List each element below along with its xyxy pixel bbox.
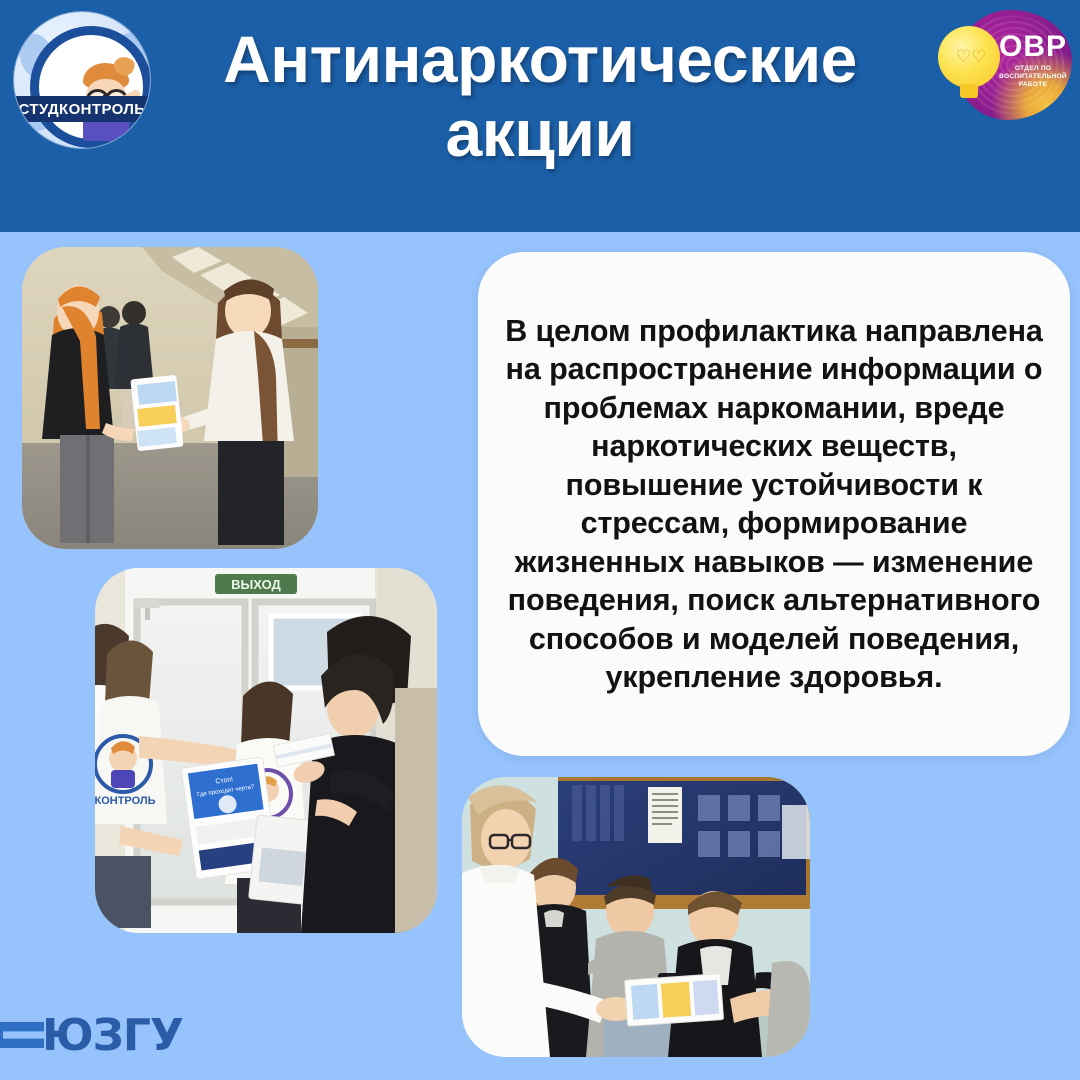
svg-text:КОНТРОЛЬ: КОНТРОЛЬ	[95, 795, 156, 807]
photo-2-artwork: ВЫХОД КОНТРОЛЬ	[95, 568, 437, 933]
studkontrol-ribbon: СТУДКОНТРОЛЬ	[14, 96, 150, 122]
studkontrol-ribbon-label: СТУДКОНТРОЛЬ	[19, 101, 146, 118]
poster-root: СТУДКОНТРОЛЬ Антинаркотические акции ♡♡ …	[0, 0, 1080, 1080]
ovr-text-block: ОВР ОТДЕЛ ПО ВОСПИТАТЕЛЬНОЙ РАБОТЕ	[996, 32, 1070, 89]
photo-3-artwork	[462, 777, 810, 1057]
logo-ring	[30, 26, 150, 148]
info-text-card: В целом профилактика направлена на распр…	[478, 252, 1070, 756]
swsu-logo: ЮЗГУ	[0, 1012, 204, 1058]
photo-students-seated-leaflet	[462, 777, 810, 1057]
ovr-subtitle: ОТДЕЛ ПО ВОСПИТАТЕЛЬНОЙ РАБОТЕ	[996, 65, 1070, 89]
photo-students-corridor	[22, 247, 318, 549]
lightbulb-icon: ♡♡	[938, 26, 1000, 88]
svg-text:ВЫХОД: ВЫХОД	[231, 577, 281, 592]
ovr-logo: ♡♡ ОВР ОТДЕЛ ПО ВОСПИТАТЕЛЬНОЙ РАБОТЕ	[938, 6, 1072, 130]
ovr-bulb-glyph: ♡♡	[956, 48, 982, 66]
ovr-abbr: ОВР	[996, 32, 1070, 62]
info-text-body: В целом профилактика направлена на распр…	[478, 312, 1070, 697]
page-title: Антинаркотические акции	[150, 22, 930, 170]
photo-1-artwork	[22, 247, 318, 549]
swsu-logo-text: ЮЗГУ	[42, 1014, 183, 1058]
studkontrol-logo: СТУДКОНТРОЛЬ	[14, 12, 150, 148]
header-banner: СТУДКОНТРОЛЬ Антинаркотические акции ♡♡ …	[0, 0, 1080, 232]
swsu-dash-mark	[0, 1022, 44, 1048]
photo-leaflet-distribution-exit: ВЫХОД КОНТРОЛЬ	[95, 568, 437, 933]
